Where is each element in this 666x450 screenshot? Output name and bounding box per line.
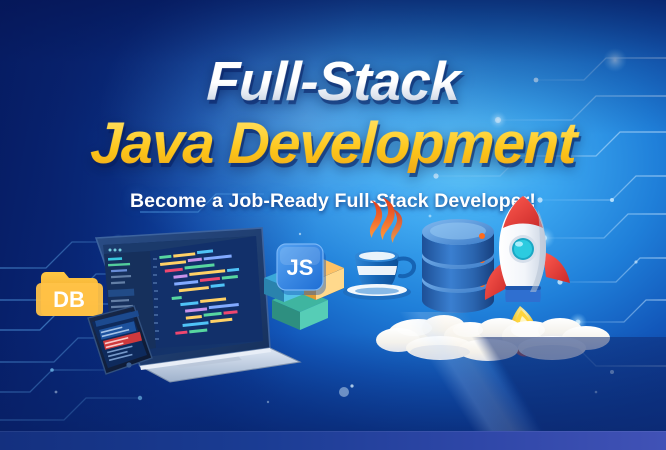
cloud-cluster <box>376 315 610 361</box>
svg-text:DB: DB <box>53 287 85 312</box>
sparkle-particles <box>55 215 638 404</box>
rocket-launch <box>485 196 570 357</box>
background-light-beam <box>246 312 666 432</box>
background-dark-wedge <box>336 337 666 432</box>
bottom-band <box>0 431 666 450</box>
isometric-blocks <box>264 256 344 330</box>
subtitle: Become a Job-Ready Full-Stack Developer! <box>0 190 666 213</box>
js-badge: JS <box>277 244 326 295</box>
svg-text:JS: JS <box>287 255 314 280</box>
headline-line-1: Full-Stack <box>0 54 666 109</box>
db-folder-badge: DB <box>36 272 103 316</box>
laptop-code-editor <box>96 228 300 382</box>
headline-group: Full-Stack Java Development <box>0 54 666 173</box>
smartphone-code-editor <box>88 306 152 374</box>
banner-root: Full-Stack Java Development Become a Job… <box>0 0 666 450</box>
database-cylinder-stack <box>422 219 494 313</box>
headline-line-2: Java Development <box>0 115 666 173</box>
